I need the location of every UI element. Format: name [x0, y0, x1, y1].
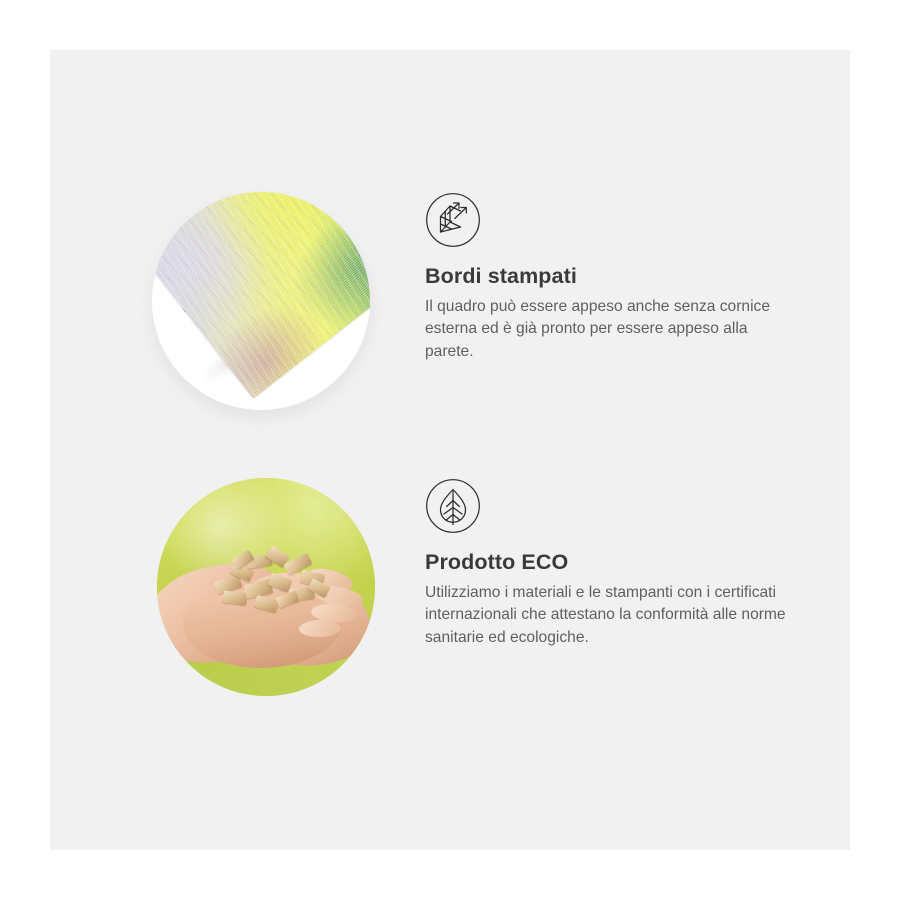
feature-block-printed-edges: Bordi stampati Il quadro può essere appe… — [50, 180, 850, 430]
wood-chips-in-hands-photo — [157, 478, 375, 696]
canvas-wrap-edges-icon — [425, 192, 481, 248]
canvas-printed-face — [152, 192, 370, 399]
feature-body-printed-edges: Il quadro può essere appeso anche senza … — [425, 296, 790, 363]
canvas-photo-composition — [152, 192, 370, 410]
feature-title-eco-product: Prodotto ECO — [425, 550, 800, 575]
eco-product-text-column: Prodotto ECO Utilizziamo i materiali e l… — [425, 550, 800, 649]
content-panel: Bordi stampati Il quadro può essere appe… — [50, 50, 850, 850]
wood-chips-pile — [209, 548, 333, 614]
canvas-corner-photo — [152, 192, 370, 410]
eco-photo-composition — [157, 478, 375, 696]
feature-body-eco-product: Utilizziamo i materiali e le stampanti c… — [425, 582, 790, 649]
product-info-page: Bordi stampati Il quadro può essere appe… — [0, 0, 900, 900]
leaf-icon — [425, 478, 481, 534]
feature-block-eco-product: Prodotto ECO Utilizziamo i materiali e l… — [50, 465, 850, 725]
printed-edges-text-column: Bordi stampati Il quadro può essere appe… — [425, 264, 800, 363]
feature-title-printed-edges: Bordi stampati — [425, 264, 800, 289]
